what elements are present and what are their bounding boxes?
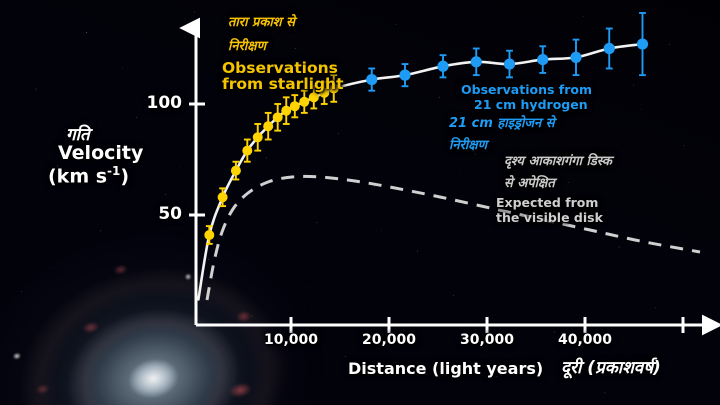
annotation-hydrogen-hindi-1: 21 cm हाइड्रोजन से	[449, 117, 555, 132]
starlight-data-points	[204, 75, 338, 244]
y-tick-label-100: 100	[130, 93, 182, 113]
y-axis-title-english: Velocity	[58, 143, 143, 164]
y-axis-unit-head: (km s	[48, 165, 107, 187]
x-axis-title-hindi: दूरी (प्रकाशवर्ष)	[561, 359, 661, 378]
data-point	[399, 64, 410, 86]
data-point	[290, 95, 300, 117]
expected-disk-curve	[207, 176, 700, 300]
annotation-starlight-hindi-2: निरीक्षण	[228, 40, 266, 55]
x-axis-title-english: Distance (light years)	[348, 360, 543, 378]
data-point	[537, 46, 548, 73]
annotation-starlight-english-2: from starlight	[222, 76, 344, 93]
x-tick-label-10000: 10,000	[241, 332, 341, 348]
data-point	[299, 91, 309, 113]
annotation-hydrogen-hindi-2: निरीक्षण	[449, 139, 487, 154]
data-point	[253, 124, 263, 151]
data-point	[437, 55, 448, 77]
data-point	[637, 13, 648, 75]
y-axis-unit-exponent: -1	[107, 164, 120, 178]
data-point	[273, 104, 283, 131]
data-point	[366, 68, 377, 90]
data-point	[263, 113, 273, 140]
y-axis-unit: (km s-1)	[48, 165, 129, 188]
data-point	[281, 97, 291, 124]
annotation-disk-hindi-2: से अपेक्षित	[504, 177, 555, 192]
data-point	[204, 226, 214, 244]
annotation-disk-english-2: the visible disk	[496, 211, 603, 225]
annotation-starlight-hindi-1: तारा प्रकाश से	[228, 16, 295, 31]
data-point	[604, 29, 615, 69]
annotation-hydrogen-english-2: 21 cm hydrogen	[474, 98, 588, 112]
figure-root: 100 50 10,000 20,000 30,000 40,000 गति V…	[0, 0, 720, 405]
hydrogen-data-points	[366, 13, 648, 91]
y-axis-unit-tail: )	[120, 165, 129, 187]
annotation-disk-english-1: Expected from	[496, 196, 598, 210]
annotation-hydrogen-english-1: Observations from	[461, 83, 592, 97]
x-tick-label-40000: 40,000	[535, 332, 635, 348]
annotation-disk-hindi-1: दृश्य आकाशगंगा डिस्क	[504, 155, 612, 170]
data-point	[504, 51, 515, 78]
data-point	[471, 49, 482, 76]
x-tick-label-30000: 30,000	[437, 332, 537, 348]
x-tick-label-20000: 20,000	[339, 332, 439, 348]
y-tick-label-50: 50	[130, 204, 182, 224]
data-point	[570, 40, 581, 76]
